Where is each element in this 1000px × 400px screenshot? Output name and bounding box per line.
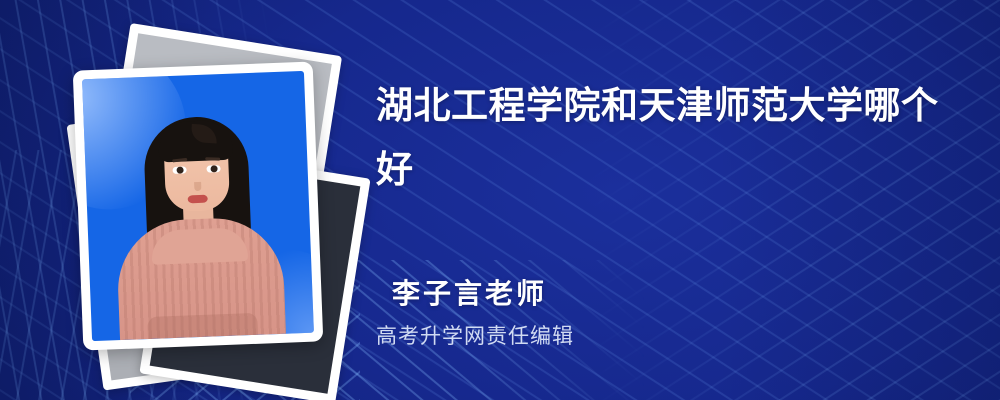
author-photo-card: [73, 61, 324, 350]
eye-left: [172, 166, 186, 174]
photo-card-stack: [60, 34, 350, 364]
eye-right: [206, 165, 220, 173]
dress-waistline: [147, 313, 258, 339]
author-role-byline: 高考升学网责任编辑: [376, 320, 574, 350]
mouth-shape: [188, 195, 208, 204]
dress-neckline: [151, 227, 248, 265]
author-portrait-photo: [82, 71, 314, 341]
text-content-block: 湖北工程学院和天津师范大学哪个好 李子言老师 高考升学网责任编辑: [374, 0, 974, 400]
headline-title: 湖北工程学院和天津师范大学哪个好: [376, 74, 956, 202]
eyebrow-right: [205, 157, 220, 160]
author-name: 李子言老师: [392, 272, 547, 312]
portrait-figure: [82, 71, 314, 341]
banner-image: 湖北工程学院和天津师范大学哪个好 李子言老师 高考升学网责任编辑: [0, 0, 1000, 400]
